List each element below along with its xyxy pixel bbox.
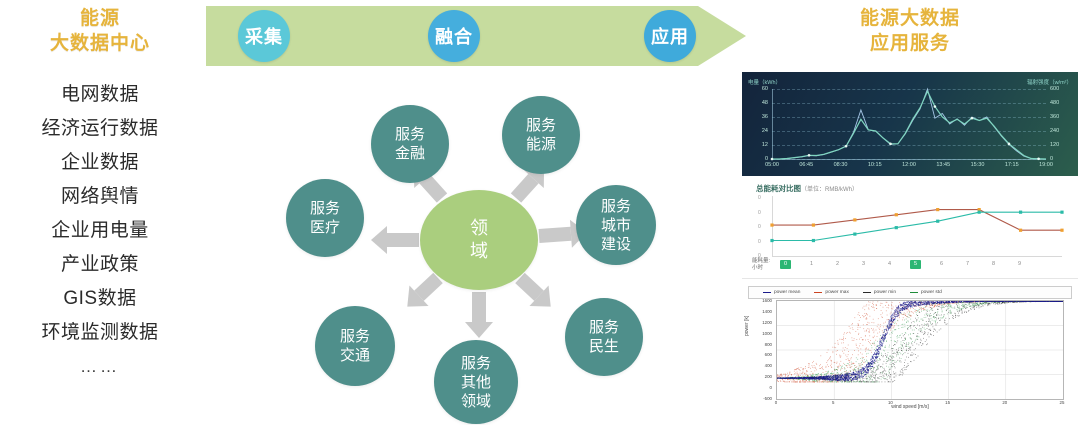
ytick-label: 1400 bbox=[746, 309, 772, 314]
diagram-node-other-domains[interactable]: 服务 其他 领域 bbox=[434, 340, 518, 424]
xtick-label: 20 bbox=[997, 400, 1013, 405]
right-panel-title: 能源大数据 应用服务 bbox=[760, 6, 1060, 56]
legend-item[interactable]: power std bbox=[910, 290, 942, 295]
stage-badge-application[interactable]: 应用 bbox=[644, 10, 696, 62]
wind-power-curve-legend[interactable]: power meanpower maxpower minpower std bbox=[748, 286, 1072, 299]
hour-button-0[interactable]: 0 bbox=[780, 260, 791, 269]
energy-comparison-chart[interactable]: 总能耗对比图（单位：RMB/kWh） 00000 能耗量: 小时 0123456… bbox=[742, 180, 1078, 280]
wind-power-curve-points bbox=[777, 301, 1063, 399]
diagram-node-urban-construction-line1: 服务 bbox=[601, 197, 631, 216]
hour-button-6[interactable]: 6 bbox=[936, 260, 947, 269]
energy-comparison-footer-line1: 能耗量: bbox=[752, 258, 770, 265]
diagram-node-energy-line1: 服务 bbox=[526, 116, 556, 135]
diagram-node-other-domains-line1: 服务 bbox=[461, 354, 491, 373]
diagram-node-energy-line2: 能源 bbox=[526, 135, 556, 154]
legend-label: power max bbox=[825, 290, 848, 295]
energy-comparison-footer-label: 能耗量: 小时 bbox=[752, 258, 770, 272]
left-panel-list: 电网数据 经济运行数据 企业数据 网络舆情 企业用电量 产业政策 GIS数据 环… bbox=[0, 78, 200, 384]
legend-item[interactable]: power min bbox=[863, 290, 896, 295]
list-item: 网络舆情 bbox=[0, 180, 200, 214]
left-panel-title: 能源 大数据中心 bbox=[0, 6, 200, 56]
legend-item[interactable]: power mean bbox=[763, 290, 800, 295]
diagram-hub-label-line2: 域 bbox=[470, 240, 488, 263]
stage-badge-collect-label: 采集 bbox=[245, 23, 283, 49]
diagram-node-finance-line1: 服务 bbox=[395, 125, 425, 144]
legend-label: power std bbox=[921, 290, 942, 295]
service-domain-diagram: 领 域 服务 金融 服务 能源 服务 城市 建设 服务 民生 服务 其他 领域 … bbox=[280, 74, 680, 425]
diagram-node-finance-line2: 金融 bbox=[395, 144, 425, 163]
legend-swatch-icon bbox=[910, 292, 918, 294]
xtick-label: 10 bbox=[882, 400, 898, 405]
right-panel-title-line2: 应用服务 bbox=[760, 31, 1060, 56]
diagram-node-urban-construction-line3: 建设 bbox=[601, 235, 631, 254]
hour-button-2[interactable]: 2 bbox=[832, 260, 843, 269]
list-item-ellipsis: …… bbox=[0, 350, 200, 384]
diagram-hub-label-line1: 领 bbox=[470, 217, 488, 240]
list-item: 产业政策 bbox=[0, 248, 200, 282]
stage-badge-fusion[interactable]: 融合 bbox=[428, 10, 480, 62]
power-irradiance-plot-lines bbox=[742, 72, 1078, 176]
energy-comparison-footer-line2: 小时 bbox=[752, 265, 770, 272]
diagram-node-finance[interactable]: 服务 金融 bbox=[371, 105, 449, 183]
diagram-node-medical-line2: 医疗 bbox=[310, 218, 340, 237]
diagram-node-livelihood-line1: 服务 bbox=[589, 318, 619, 337]
hour-button-3[interactable]: 3 bbox=[858, 260, 869, 269]
list-item: 环境监测数据 bbox=[0, 316, 200, 350]
diagram-node-energy[interactable]: 服务 能源 bbox=[502, 96, 580, 174]
ytick-label: 1200 bbox=[746, 320, 772, 325]
diagram-node-transport-line2: 交通 bbox=[340, 346, 370, 365]
diagram-node-livelihood[interactable]: 服务 民生 bbox=[565, 298, 643, 376]
stage-badge-application-label: 应用 bbox=[651, 23, 689, 49]
diagram-node-transport-line1: 服务 bbox=[340, 327, 370, 346]
right-panel-title-line1: 能源大数据 bbox=[760, 6, 1060, 31]
hour-button-4[interactable]: 4 bbox=[884, 260, 895, 269]
power-irradiance-chart[interactable]: 电量（kWh） 辐射强度（w/m²） 01224364860 012024036… bbox=[742, 72, 1078, 176]
diagram-node-other-domains-line2: 其他 bbox=[461, 373, 491, 392]
ytick-label: 800 bbox=[746, 342, 772, 347]
ytick-label: 0 bbox=[746, 385, 772, 390]
wind-power-curve-plot bbox=[776, 300, 1064, 400]
diagram-node-other-domains-line3: 领域 bbox=[461, 392, 491, 411]
left-panel-title-line1: 能源 bbox=[0, 6, 200, 31]
stage-badge-collect[interactable]: 采集 bbox=[238, 10, 290, 62]
hour-button-9[interactable]: 9 bbox=[1014, 260, 1025, 269]
xtick-label: 15 bbox=[940, 400, 956, 405]
process-flow-banner: 采集 融合 应用 bbox=[206, 6, 746, 66]
diagram-node-medical-line1: 服务 bbox=[310, 199, 340, 218]
ytick-label: 400 bbox=[746, 363, 772, 368]
list-item: GIS数据 bbox=[0, 282, 200, 316]
ytick-label: 1000 bbox=[746, 331, 772, 336]
hour-button-7[interactable]: 7 bbox=[962, 260, 973, 269]
legend-swatch-icon bbox=[863, 292, 871, 294]
diagram-node-urban-construction[interactable]: 服务 城市 建设 bbox=[576, 185, 656, 265]
legend-label: power min bbox=[874, 290, 896, 295]
list-item: 电网数据 bbox=[0, 78, 200, 112]
left-data-sources-panel: 能源 大数据中心 电网数据 经济运行数据 企业数据 网络舆情 企业用电量 产业政… bbox=[0, 0, 200, 425]
diagram-node-medical[interactable]: 服务 医疗 bbox=[286, 179, 364, 257]
hour-button-1[interactable]: 1 bbox=[806, 260, 817, 269]
ytick-label: 200 bbox=[746, 374, 772, 379]
banner-arrow-head-icon bbox=[698, 6, 746, 66]
legend-swatch-icon bbox=[814, 292, 822, 294]
hour-button-5[interactable]: 5 bbox=[910, 260, 921, 269]
xtick-label: 5 bbox=[825, 400, 841, 405]
stage-badge-fusion-label: 融合 bbox=[435, 23, 473, 49]
diagram-node-livelihood-line2: 民生 bbox=[589, 337, 619, 356]
list-item: 企业数据 bbox=[0, 146, 200, 180]
legend-swatch-icon bbox=[763, 292, 771, 294]
dashboard-screenshots: 电量（kWh） 辐射强度（w/m²） 01224364860 012024036… bbox=[742, 72, 1078, 424]
slide-root: 能源 大数据中心 电网数据 经济运行数据 企业数据 网络舆情 企业用电量 产业政… bbox=[0, 0, 1080, 425]
list-item: 企业用电量 bbox=[0, 214, 200, 248]
ytick-label: 600 bbox=[746, 352, 772, 357]
xtick-label: 0 bbox=[768, 400, 784, 405]
xtick-label: 25 bbox=[1054, 400, 1070, 405]
wind-power-curve-xlabel: wind speed [m/s] bbox=[742, 404, 1078, 410]
diagram-node-urban-construction-line2: 城市 bbox=[601, 216, 631, 235]
arrow-to-other-domains-icon bbox=[465, 292, 493, 338]
ytick-label: 1600 bbox=[746, 298, 772, 303]
list-item: 经济运行数据 bbox=[0, 112, 200, 146]
legend-item[interactable]: power max bbox=[814, 290, 848, 295]
wind-power-curve-chart[interactable]: power meanpower maxpower minpower std po… bbox=[742, 284, 1078, 424]
legend-label: power mean bbox=[774, 290, 800, 295]
left-panel-title-line2: 大数据中心 bbox=[0, 31, 200, 56]
divider bbox=[742, 278, 1078, 279]
diagram-node-transport[interactable]: 服务 交通 bbox=[315, 306, 395, 386]
arrow-to-medical-icon bbox=[371, 226, 419, 254]
hour-button-8[interactable]: 8 bbox=[988, 260, 999, 269]
diagram-hub-domain[interactable]: 领 域 bbox=[420, 190, 538, 290]
